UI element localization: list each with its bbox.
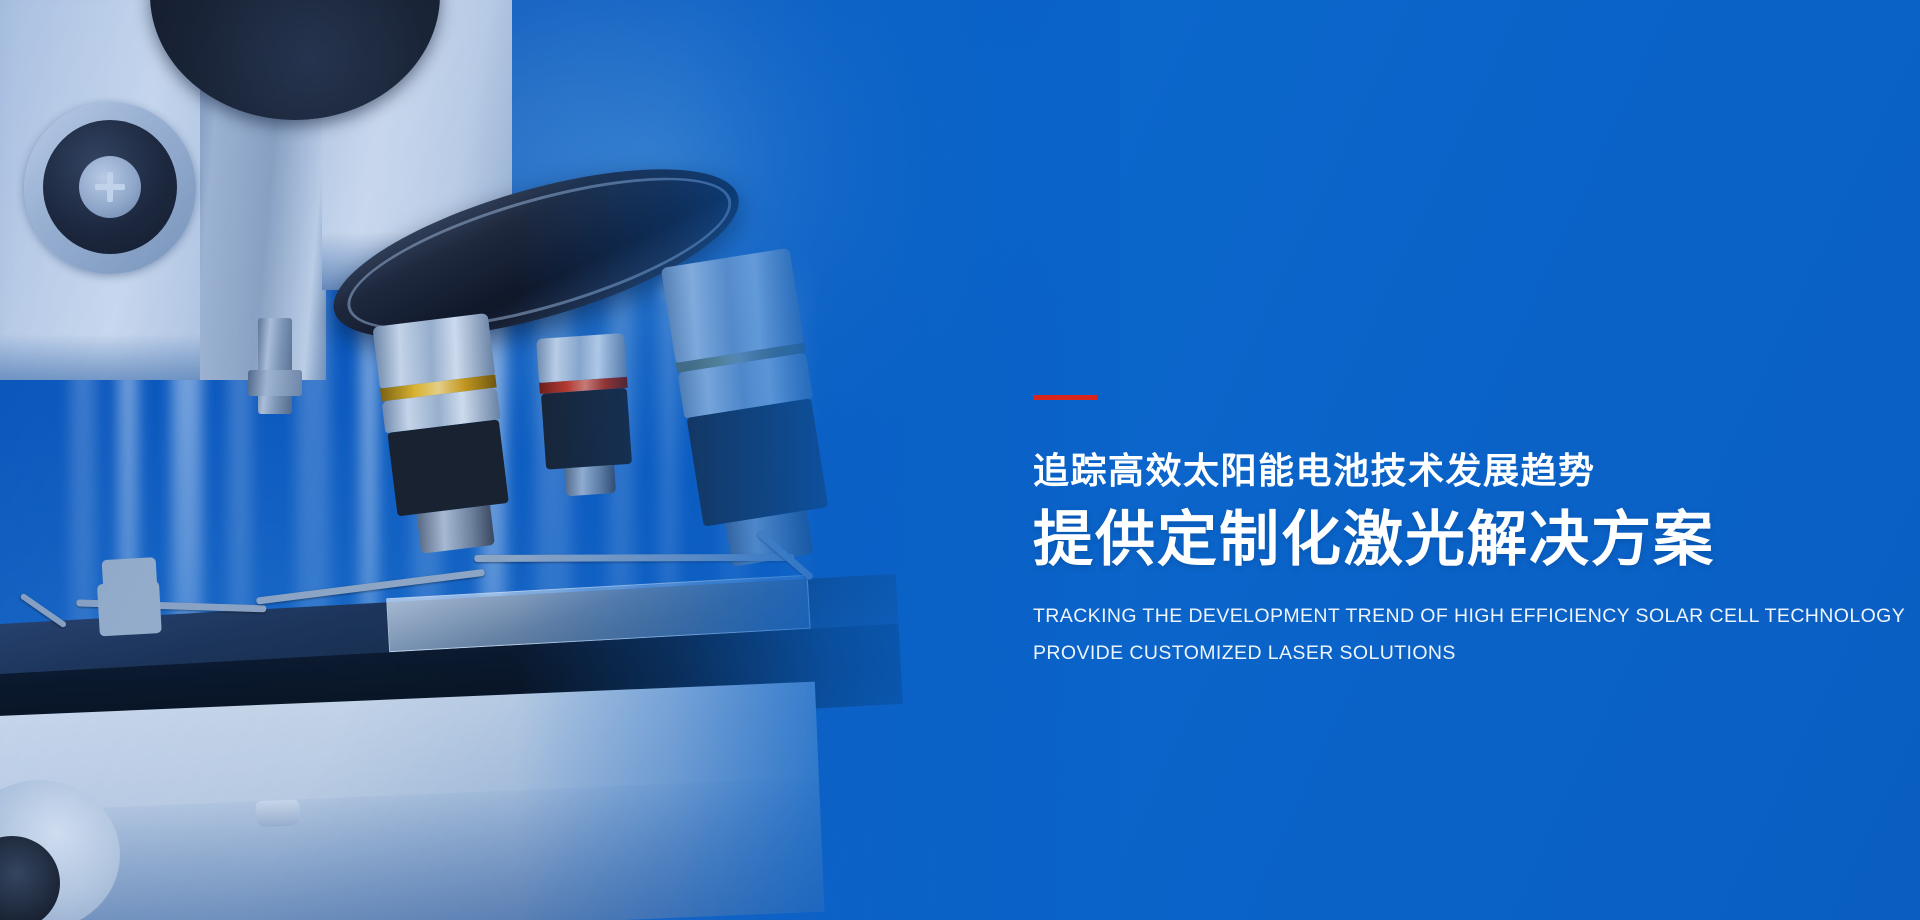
accent-rule <box>1033 395 1097 400</box>
microscope-photo <box>0 0 1120 920</box>
photo-fade-to-blue <box>0 0 1120 920</box>
headline-secondary-cn: 追踪高效太阳能电池技术发展趋势 <box>1033 452 1863 491</box>
hero-banner: 追踪高效太阳能电池技术发展趋势 提供定制化激光解决方案 TRACKING THE… <box>0 0 1920 920</box>
subheadline-en-line-2: PROVIDE CUSTOMIZED LASER SOLUTIONS <box>1033 644 1863 664</box>
microscope-photo-layers <box>0 0 1120 920</box>
headline-primary-cn: 提供定制化激光解决方案 <box>1033 507 1863 573</box>
subheadline-en-line-1: TRACKING THE DEVELOPMENT TREND OF HIGH E… <box>1033 607 1863 627</box>
hero-copy-block: 追踪高效太阳能电池技术发展趋势 提供定制化激光解决方案 TRACKING THE… <box>1033 395 1863 664</box>
